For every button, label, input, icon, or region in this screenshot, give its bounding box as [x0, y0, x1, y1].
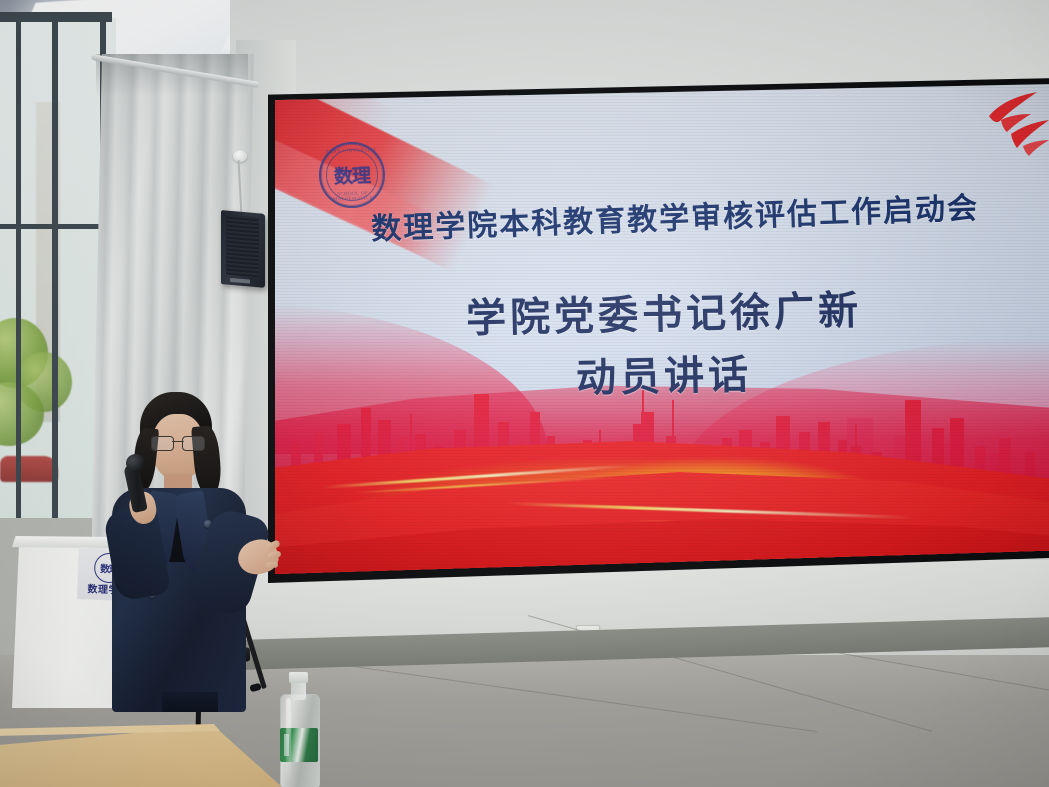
speaker-grille	[226, 215, 259, 278]
led-presentation-screen[interactable]: XXXX UNIVERSITY 数理 SCHOOL OF MATHEMATICS…	[275, 84, 1049, 574]
bottle-highlight	[286, 698, 291, 780]
conference-room-photo: XXXX UNIVERSITY 数理 SCHOOL OF MATHEMATICS…	[0, 0, 1049, 787]
window-mullion	[16, 18, 21, 518]
speaker-person	[104, 392, 276, 712]
slide-subtitle-line1: 学院党委书记徐广新	[275, 274, 1049, 348]
water-bottle	[278, 672, 320, 787]
seal-arc-top: XXXX UNIVERSITY	[320, 148, 382, 155]
eyeglasses-icon	[151, 436, 205, 449]
school-seal-icon: XXXX UNIVERSITY 数理 SCHOOL OF MATHEMATICS	[318, 141, 386, 209]
car-outside	[0, 456, 58, 482]
wall-anchor	[233, 150, 247, 162]
wall-speaker	[221, 210, 265, 288]
seal-center-text: 数理	[321, 160, 384, 189]
bottle-neck	[291, 680, 306, 700]
flying-bird-icon	[971, 90, 1049, 156]
window-mullion	[52, 18, 58, 518]
bottle-cap	[289, 672, 308, 683]
speaker-logo	[230, 278, 250, 284]
window-header	[0, 12, 112, 22]
lower-body	[162, 692, 218, 712]
